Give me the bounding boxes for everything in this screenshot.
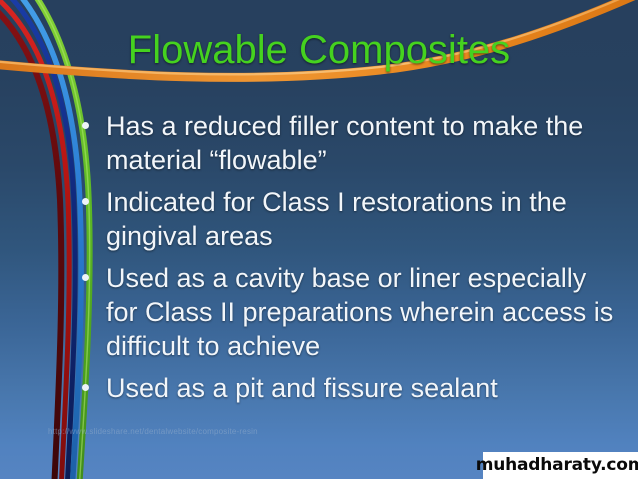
list-item-text: Used as a pit and fissure sealant	[106, 371, 623, 405]
slide-title: Flowable Composites	[0, 26, 638, 74]
watermark-badge: muhadharaty.com	[483, 452, 638, 479]
list-item: Indicated for Class I restorations in th…	[78, 185, 623, 253]
list-item-text: Used as a cavity base or liner especiall…	[106, 261, 623, 363]
list-item-text: Has a reduced filler content to make the…	[106, 109, 623, 177]
bullet-dot-icon	[82, 198, 89, 205]
bullet-dot-icon	[82, 384, 89, 391]
source-url-caption: http://www.slideshare.net/dentalwebsite/…	[48, 427, 258, 437]
bullet-dot-icon	[82, 274, 89, 281]
bullet-list: Has a reduced filler content to make the…	[78, 109, 623, 413]
presentation-slide: Flowable Composites Has a reduced filler…	[0, 0, 638, 479]
watermark-label: muhadharaty.com	[476, 456, 638, 475]
list-item: Used as a cavity base or liner especiall…	[78, 261, 623, 363]
list-item: Has a reduced filler content to make the…	[78, 109, 623, 177]
list-item-text: Indicated for Class I restorations in th…	[106, 185, 623, 253]
list-item: Used as a pit and fissure sealant	[78, 371, 623, 405]
bullet-dot-icon	[82, 122, 89, 129]
